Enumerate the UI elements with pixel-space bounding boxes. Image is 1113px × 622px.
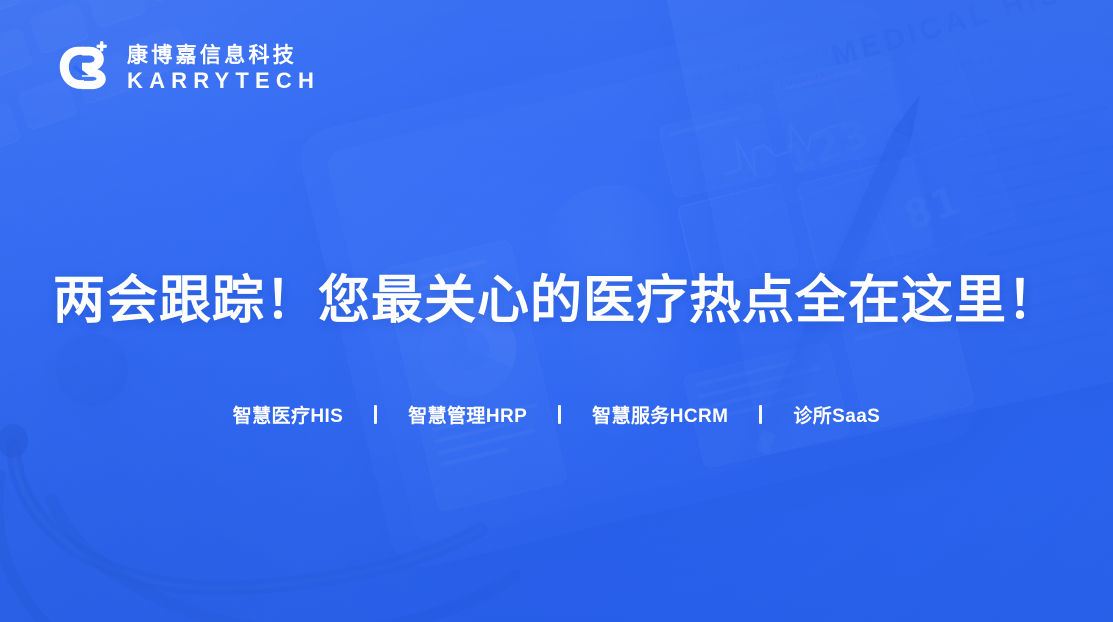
banner-headline: 两会跟踪！您最关心的医疗热点全在这里！: [0, 271, 1113, 332]
subnav-separator-2: [558, 405, 561, 424]
karrytech-logo-icon: [52, 38, 114, 100]
brand-wordmark: 康博嘉信息科技 KARRYTECH: [127, 44, 320, 95]
marketing-banner: Z X Caps: [0, 0, 1113, 622]
subnav-separator-1: [374, 405, 377, 424]
product-subnav: 智慧医疗HIS 智慧管理HRP 智慧服务HCRM 诊所SaaS: [0, 401, 1113, 428]
subnav-item-his[interactable]: 智慧医疗HIS: [233, 401, 343, 428]
subnav-item-saas[interactable]: 诊所SaaS: [793, 401, 880, 428]
subnav-separator-3: [759, 405, 762, 424]
subnav-item-hcrm[interactable]: 智慧服务HCRM: [592, 401, 728, 428]
brand-name-cn: 康博嘉信息科技: [127, 44, 320, 69]
banner-content: 康博嘉信息科技 KARRYTECH 两会跟踪！您最关心的医疗热点全在这里！ 智慧…: [0, 0, 1113, 622]
brand-name-en: KARRYTECH: [127, 68, 320, 94]
subnav-item-hrp[interactable]: 智慧管理HRP: [408, 401, 527, 428]
brand-logo-lockup[interactable]: 康博嘉信息科技 KARRYTECH: [52, 38, 320, 100]
